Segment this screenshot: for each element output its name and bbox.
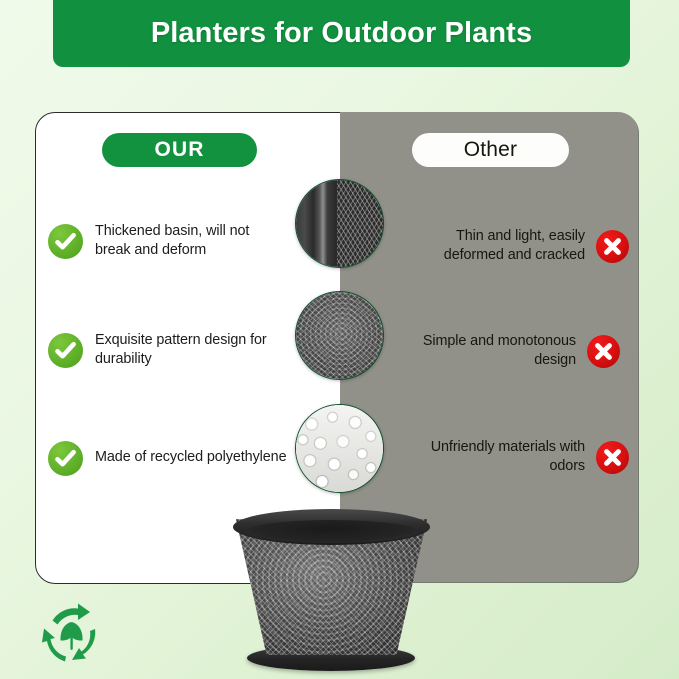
page-title: Planters for Outdoor Plants [151, 17, 532, 50]
planter-rim-inner [245, 520, 418, 543]
check-circle-icon [48, 224, 83, 259]
our-feature-label: Exquisite pattern design for durability [95, 331, 288, 369]
other-feature-label: Simple and monotonous design [395, 332, 576, 370]
detail-photo-pot-wall-mesh [337, 180, 383, 267]
detail-photo-weave-pattern [295, 291, 384, 380]
our-feature-row: Thickened basin, will not break and defo… [48, 211, 288, 271]
title-banner: Planters for Outdoor Plants [53, 0, 630, 67]
product-photo-planter [233, 503, 430, 671]
detail-photo-pot-wall [295, 179, 384, 268]
infographic-root: Planters for Outdoor Plants OUR Other Th… [0, 0, 679, 679]
detail-photo-plastic-pellets [295, 404, 384, 493]
other-feature-label: Thin and light, easily deformed and crac… [404, 227, 585, 265]
other-feature-row: Simple and monotonous design [395, 322, 620, 380]
our-feature-label: Made of recycled polyethylene [95, 448, 287, 467]
detail-photo-weave-pattern-swirl [296, 292, 383, 379]
our-column-badge-label: OUR [155, 138, 205, 162]
other-feature-row: Unfriendly materials with odors [404, 428, 629, 486]
other-column-badge: Other [412, 133, 569, 167]
recycle-leaf-icon [38, 600, 106, 668]
planter-rim [233, 509, 430, 545]
other-column-badge-label: Other [464, 138, 518, 162]
other-feature-label: Unfriendly materials with odors [404, 438, 585, 476]
check-circle-icon [48, 333, 83, 368]
detail-photo-plastic-pellets-image [296, 405, 383, 492]
check-circle-icon [48, 441, 83, 476]
cross-circle-icon [596, 441, 629, 474]
other-feature-row: Thin and light, easily deformed and crac… [404, 217, 629, 275]
cross-circle-icon [596, 230, 629, 263]
our-feature-label: Thickened basin, will not break and defo… [95, 222, 288, 260]
our-feature-row: Exquisite pattern design for durability [48, 320, 288, 380]
cross-circle-icon [587, 335, 620, 368]
our-feature-row: Made of recycled polyethylene [48, 428, 288, 488]
our-column-badge: OUR [102, 133, 257, 167]
